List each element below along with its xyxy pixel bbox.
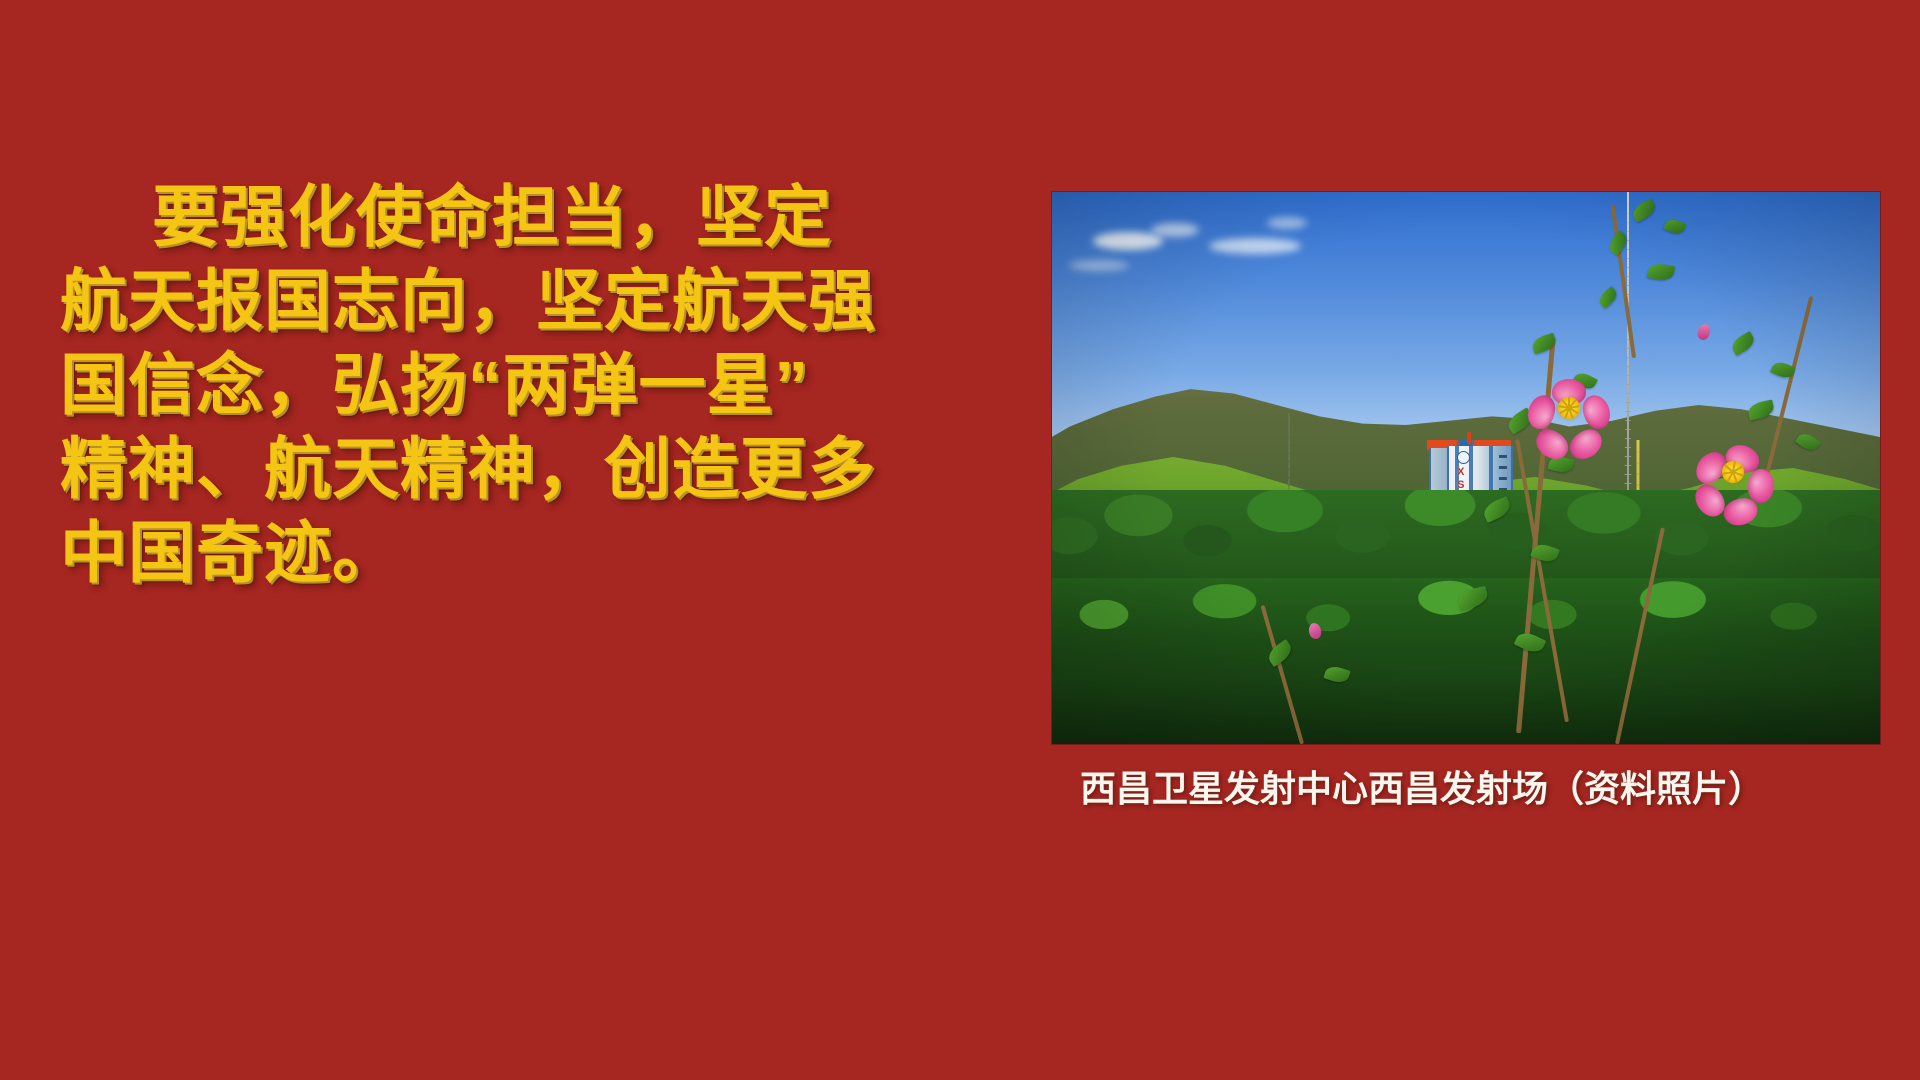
quote-line-4: 精神、航天精神，创造更多 (0, 428, 1000, 512)
quote-line-1: 要强化使命担当，坚定 (0, 176, 1000, 260)
quote-line-2: 航天报国志向，坚定航天强 (0, 260, 1000, 344)
quote-line-3: 国信念，弘扬“两弹一星” (0, 344, 1000, 428)
launch-center-photo: XSLC (1052, 192, 1880, 744)
slide-canvas: 要强化使命担当，坚定 航天报国志向，坚定航天强 国信念，弘扬“两弹一星” 精神、… (0, 0, 1920, 1080)
photo-vignette (1052, 192, 1880, 744)
photo-scene: XSLC (1052, 192, 1880, 744)
quote-line-5: 中国奇迹。 (0, 512, 1000, 596)
quote-block: 要强化使命担当，坚定 航天报国志向，坚定航天强 国信念，弘扬“两弹一星” 精神、… (0, 176, 1000, 596)
photo-caption: 西昌卫星发射中心西昌发射场（资料照片） (1080, 766, 1900, 812)
